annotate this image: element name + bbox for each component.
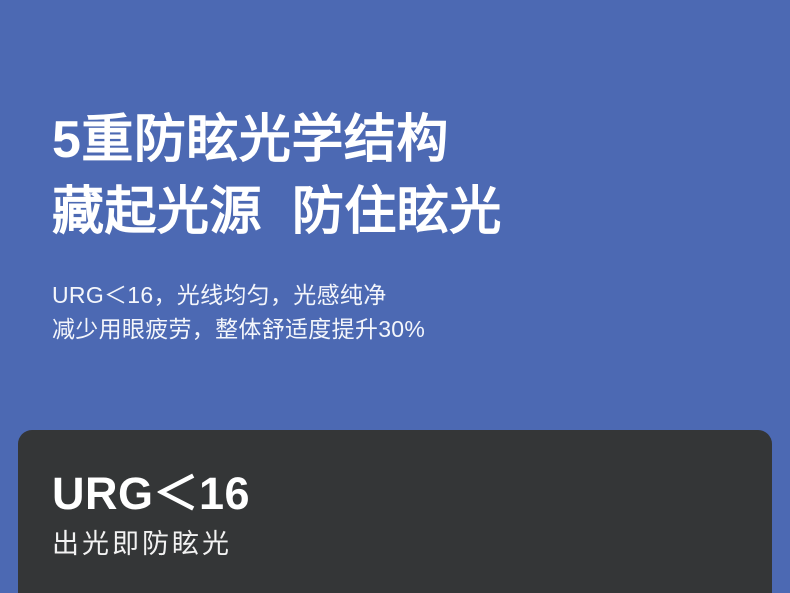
- spec-card: URG＜16 出光即防眩光: [18, 430, 772, 593]
- subcopy-section: URG＜16，光线均匀，光感纯净 减少用眼疲劳，整体舒适度提升30%: [52, 278, 752, 346]
- product-detail-page: 5重防眩光学结构 藏起光源 防住眩光 URG＜16，光线均匀，光感纯净 减少用眼…: [0, 0, 790, 593]
- spec-value: URG＜16: [52, 468, 250, 520]
- spec-caption: 出光即防眩光: [52, 526, 250, 562]
- page-subtitle-headline: 藏起光源 防住眩光: [52, 176, 752, 248]
- subcopy-line-2: 减少用眼疲劳，整体舒适度提升30%: [52, 312, 752, 346]
- page-title: 5重防眩光学结构: [52, 104, 752, 176]
- spec-card-content: URG＜16 出光即防眩光: [52, 468, 250, 562]
- subcopy-line-1: URG＜16，光线均匀，光感纯净: [52, 278, 752, 312]
- hero-section: 5重防眩光学结构 藏起光源 防住眩光: [52, 104, 752, 248]
